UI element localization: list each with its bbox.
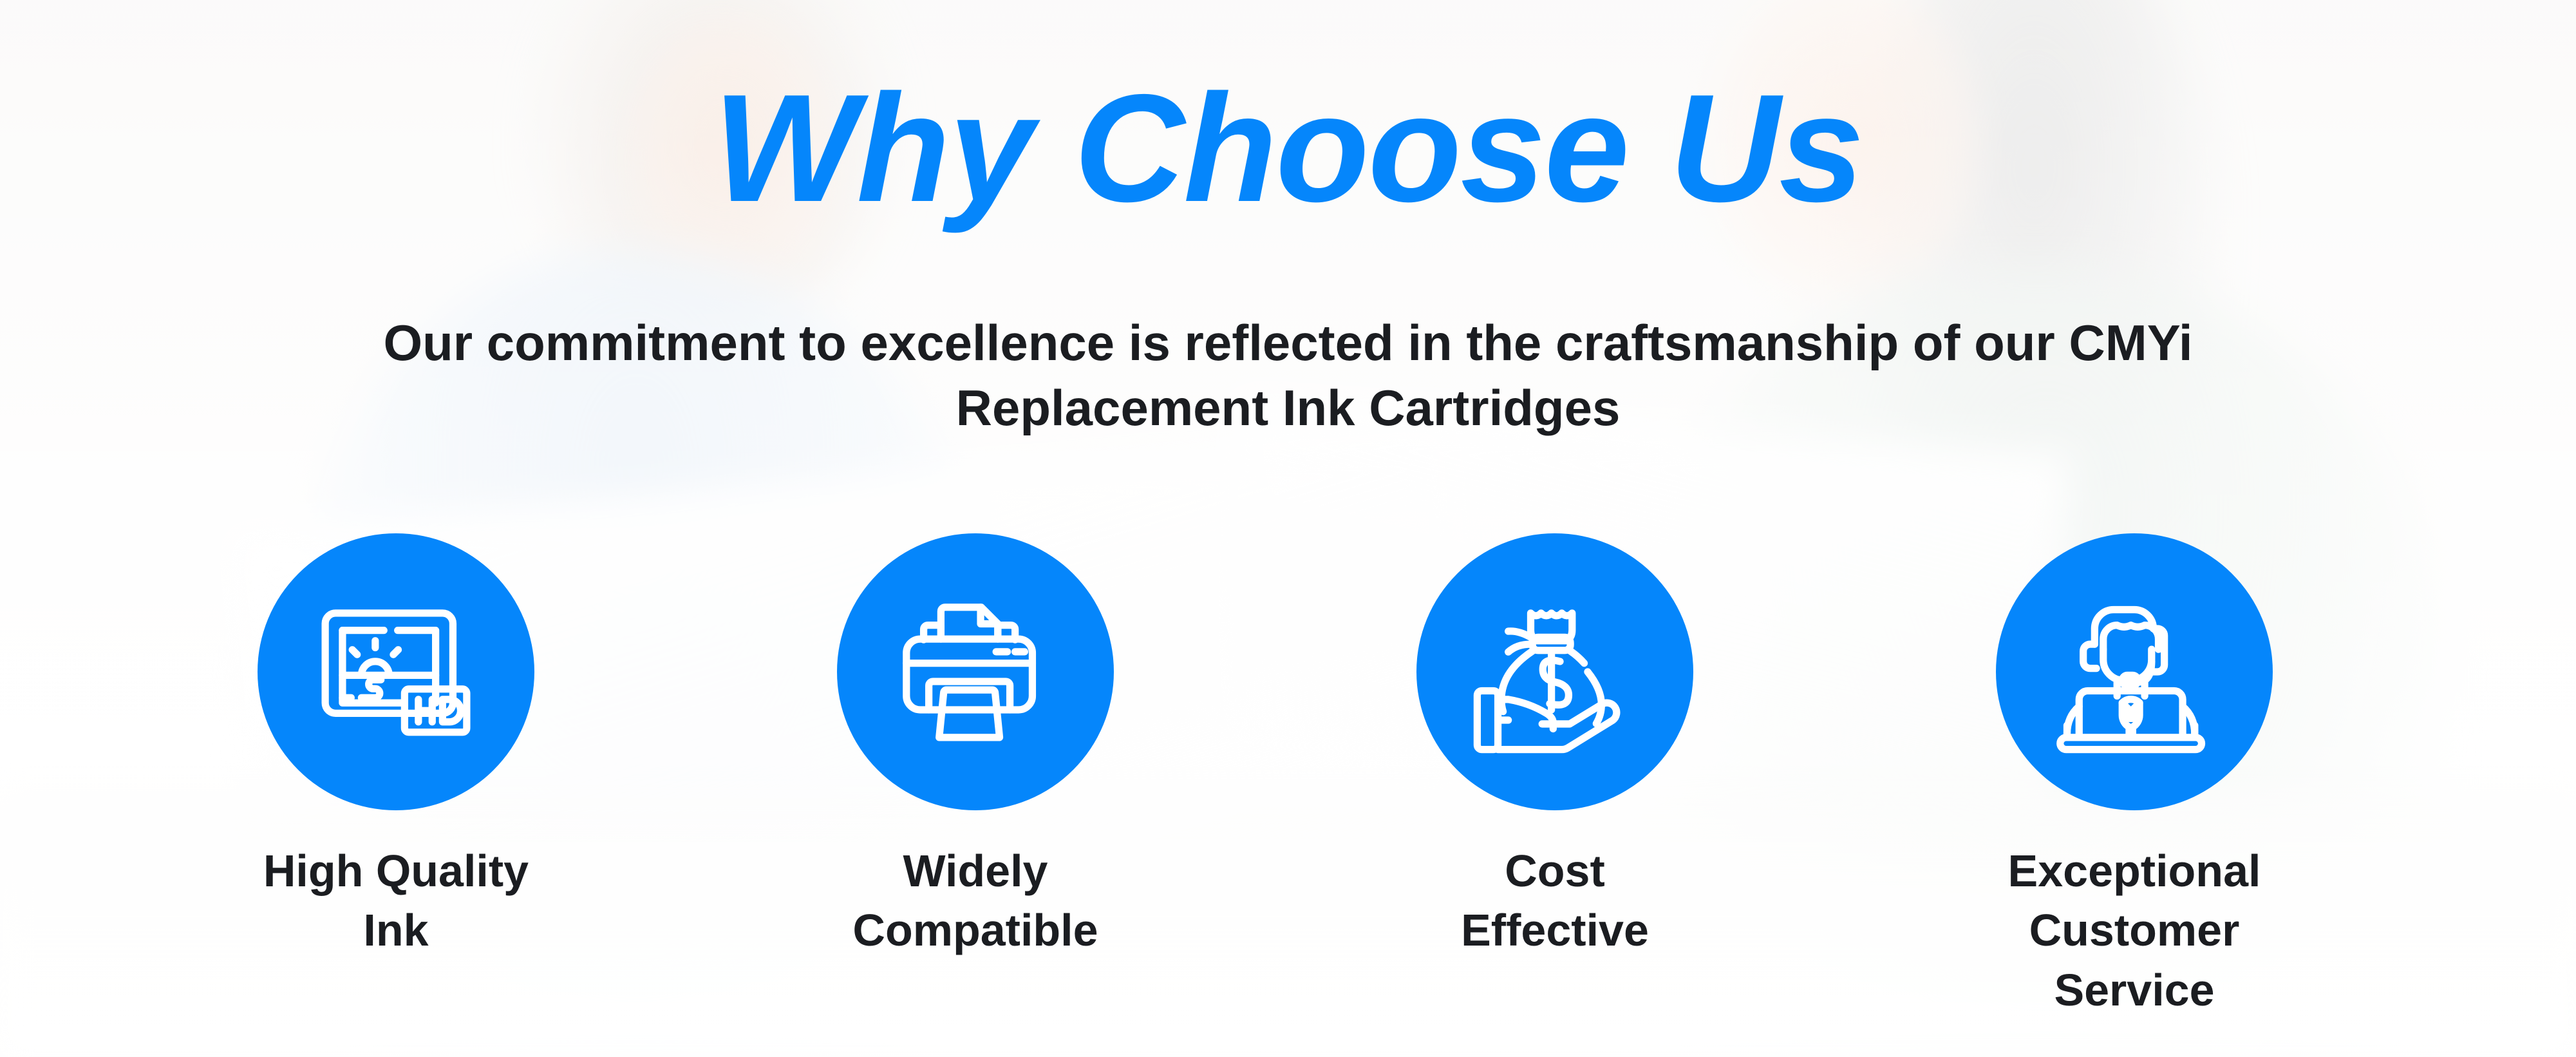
feature-item: Exceptional Customer Service (1996, 533, 2273, 1020)
feature-item: High Quality Ink (258, 533, 534, 960)
money-bag-in-hand-icon (1469, 586, 1641, 758)
feature-icon-badge (1416, 533, 1693, 810)
page-title: Why Choose Us (0, 72, 2576, 225)
feature-icon-badge (1996, 533, 2273, 810)
printer-icon (889, 586, 1062, 758)
feature-icon-badge (258, 533, 534, 810)
feature-label: Cost Effective (1461, 841, 1649, 960)
hd-image-icon (310, 586, 482, 758)
why-choose-us-banner: Why Choose Us Our commitment to excellen… (0, 0, 2576, 1057)
feature-item: Cost Effective (1416, 533, 1693, 960)
feature-icon-badge (837, 533, 1114, 810)
customer-support-agent-icon (2048, 586, 2221, 758)
feature-label: High Quality Ink (263, 841, 529, 960)
page-subtitle: Our commitment to excellence is reflecte… (355, 310, 2222, 441)
feature-item: Widely Compatible (837, 533, 1114, 960)
feature-label: Widely Compatible (852, 841, 1098, 960)
feature-list: High Quality Ink (258, 533, 2318, 1020)
feature-label: Exceptional Customer Service (1996, 841, 2273, 1020)
